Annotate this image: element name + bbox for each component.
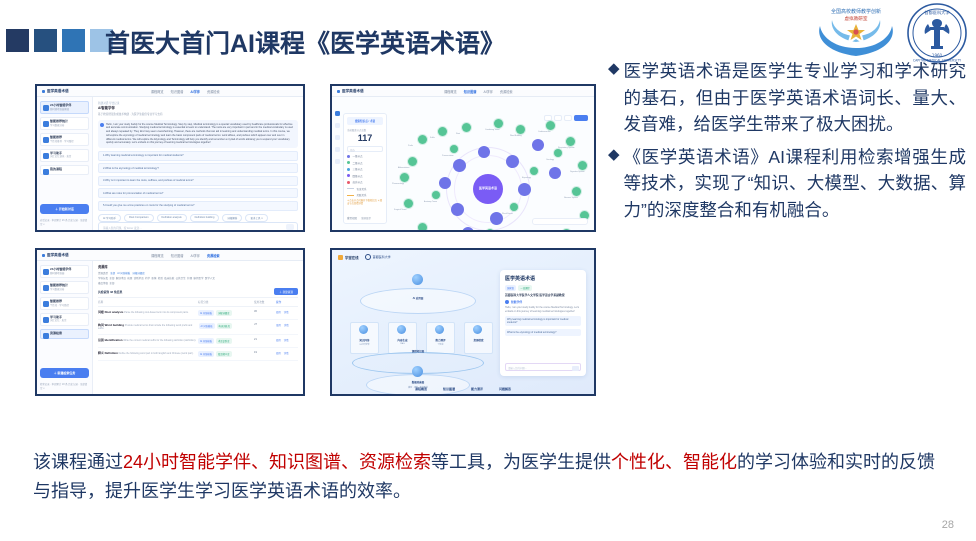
robot-icon [43, 269, 49, 275]
filter-opt-0-2[interactable]: 词根词缀库 [132, 272, 145, 275]
sidebar-item-0[interactable]: 24小时智能学伴 随时随地答疑解惑 [40, 101, 89, 114]
filter-opt-1-9[interactable]: 护理 [187, 277, 192, 280]
graph-node-l2-0[interactable] [418, 135, 427, 144]
graph-notes: ＊点击节点可展开下级知识点 ＊双击节点查看详情 [347, 200, 383, 206]
table-row[interactable]: 构词 Word building Provide medical terms t… [98, 320, 298, 334]
footer-seg-2: 等工具，为医学生提供 [431, 452, 611, 472]
graph-layout-icon[interactable] [554, 115, 562, 121]
graph-export-icon[interactable] [564, 115, 572, 121]
graph-fullscreen-button[interactable]: 全屏显示 [361, 216, 371, 220]
graph-nav-item-0[interactable]: 课程概览 [444, 89, 457, 94]
row-0-count: 36 [254, 310, 276, 313]
graph-label-0: Prefix [408, 145, 413, 147]
course-suggestion-0[interactable]: Why learning medical terminology is impo… [505, 316, 581, 327]
pillar-2-label: 能力测评 [426, 338, 455, 342]
table-row[interactable]: 词根 Root analysis Parse the following roo… [98, 307, 298, 320]
footer-seg-1: 24小时智能学伴、知识图谱、资源检索 [123, 452, 431, 472]
graph-node-l2-16[interactable] [404, 199, 413, 208]
graph-control-panel: 搜索知识点 / 术语 当前图谱节点总数 117 筛选 一级节点 二级节点 三级节… [343, 113, 387, 224]
row-2-desc: Write the correct medical suffix for the… [123, 339, 196, 342]
row-3-desc: Define the following word part in both E… [119, 352, 194, 355]
chat-title: AI智能学伴 [98, 105, 298, 110]
graph-node-l1-6[interactable] [478, 146, 490, 158]
graph-node-l2-4[interactable] [516, 125, 525, 134]
row-2-actions[interactable]: 使用 详情 [276, 338, 298, 342]
graph-center-node[interactable]: 医学英语术语 [473, 174, 503, 204]
chat-main: 新建对话 导出记录 AI智能学伴 基于检索增强生成技术构建 · 为医学生提供专业… [93, 97, 303, 230]
chat-nav[interactable]: 课程概览 知识图谱 AI学伴 资源检索 [151, 89, 220, 94]
filter-opt-1-6[interactable]: 检验 [158, 277, 163, 280]
row-3-use-link[interactable]: 使用 [276, 351, 281, 355]
course-tags: 国家级 一流课程 [505, 285, 581, 291]
new-search-task-button[interactable]: ＋ 新建检索任务 [40, 368, 89, 378]
legend-dot-0 [347, 155, 350, 158]
suggestion-4[interactable]: 5.Could you give me a few practices on r… [98, 201, 298, 211]
row-3-tag-1: 双语释义库 [216, 351, 232, 357]
bullet-item-0: ◆ 医学英语术语是医学生专业学习和学术研究的基石，但由于医学英语术语词长、量大、… [608, 58, 966, 138]
graph-label-18: Abbreviations [398, 167, 409, 169]
legend-dot-2 [347, 168, 350, 171]
pillar-3-label: 资源检索 [464, 338, 493, 342]
graph-node-l2-18[interactable] [408, 157, 417, 166]
stage-bottom-node-label: 数据底座层 [388, 380, 448, 384]
course-bottom-nav-0[interactable]: 课程概览 [415, 387, 427, 391]
filter-opt-1-2[interactable]: 病理 [127, 277, 132, 280]
legend-label-1: 二级节点 [353, 161, 363, 165]
res-sidebar-item-2[interactable]: 智能推荐 个性化 · 学习路径 [40, 297, 89, 310]
legend-item-0: 一级节点 [347, 154, 383, 158]
star-icon [43, 137, 49, 143]
brand-dot-icon [42, 90, 45, 93]
stage-bottom-ellipse [366, 374, 470, 396]
add-resource-button[interactable]: ＋ 新建资源 [274, 288, 298, 295]
chart-icon [43, 285, 49, 291]
graph-body: 搜索知识点 / 术语 当前图谱节点总数 117 筛选 一级节点 二级节点 三级节… [332, 97, 594, 230]
panel-knowledge-graph[interactable]: 医学英语术语 课程概览 知识图谱 AI学伴 资源检索 [330, 84, 596, 232]
graph-label-2: Root [456, 133, 460, 135]
rail-icon-4[interactable] [335, 159, 340, 164]
page-title: 首医大首门AI课程《医学英语术语》 [105, 24, 505, 60]
row-2-tag-1: 术语识别库 [216, 338, 232, 344]
resources-nav-item-0[interactable]: 课程概览 [151, 253, 164, 258]
bullet-marker-1: ◆ [608, 144, 624, 224]
filter-opt-1-10[interactable]: 康复医学 [193, 277, 203, 280]
panel-course-landing[interactable]: 学堂在线 首都医科大学 AI 应用层 [330, 248, 596, 396]
graph-label-6: Respiratory System [558, 147, 575, 149]
assistant-avatar [100, 123, 104, 127]
course-suggestion-1[interactable]: What is the etymology of medical termino… [505, 329, 581, 336]
filter-opt-1-1[interactable]: 解剖术语 [116, 277, 126, 280]
row-3-actions[interactable]: 使用 详情 [276, 351, 298, 355]
graph-node-l2-24[interactable] [554, 149, 562, 157]
row-1-actions[interactable]: 使用 详情 [276, 323, 298, 327]
send-button[interactable] [286, 224, 294, 230]
graph-node-l1-9[interactable] [462, 227, 474, 232]
res-sidebar-item-2-sub: 个性化 · 学习路径 [50, 304, 86, 307]
row-0-detail-link[interactable]: 详情 [284, 310, 289, 314]
graph-node-l2-2[interactable] [462, 123, 471, 132]
decor-square-3 [62, 29, 85, 52]
legend-line-5 [347, 188, 354, 189]
graph-footer-buttons[interactable]: 重置视图 全屏显示 [347, 216, 383, 220]
row-3-detail-link[interactable]: 详情 [284, 351, 289, 355]
row-3-main: 释义 Definition Define the following word … [98, 351, 198, 355]
svg-text:全国高校教师教学创新: 全国高校教师教学创新 [831, 8, 881, 15]
graph-node-l1-8[interactable] [549, 167, 561, 179]
new-conversation-button[interactable]: ＋ 开始新对话 [40, 204, 89, 214]
chat-composer[interactable]: 请输入您的问题，按 Enter 发送… [98, 222, 298, 232]
legend-item-6: 关联关系 [347, 193, 383, 197]
row-0-desc: Parse the following root-based term into… [124, 311, 188, 314]
pillar-1-sub: RAG [388, 343, 417, 345]
graph-reset-button[interactable]: 重置视图 [347, 216, 357, 220]
bullet-text-0: 医学英语术语是医学生专业学习和学术研究的基石，但由于医学英语术语词长、量大、发音… [624, 58, 966, 138]
resources-brand: 医学英语术语 [42, 253, 69, 258]
graph-node-l2-20[interactable] [530, 167, 538, 175]
sidebar-item-1[interactable]: 智能推荐统计 学习数据分析 [40, 117, 89, 130]
row-0-main: 词根 Root analysis Parse the following roo… [98, 310, 198, 314]
pillar-2-sub: 个性化 [426, 343, 455, 346]
res-sidebar-item-0-sub: 随时随地答疑 [50, 272, 86, 275]
assistant-message-text: Hello, I am your study buddy for the cou… [106, 123, 293, 145]
row-3-name: 释义 Definition [98, 351, 118, 355]
star-icon [43, 301, 49, 307]
graph-label-22: Plural Forms [502, 213, 513, 215]
graph-nav[interactable]: 课程概览 知识图谱 AI学伴 资源检索 [444, 89, 513, 94]
legend-item-3: 四级节点 [347, 174, 383, 178]
row-0-tag-1: 词根词缀库 [216, 310, 232, 316]
tool-tag-4[interactable]: 词根解析 [222, 214, 242, 222]
chat-nav-item-2[interactable]: AI学伴 [190, 89, 200, 94]
row-0-tag-0: AI 问答模板 [198, 310, 214, 316]
graph-node-l2-17[interactable] [400, 173, 409, 182]
col-tags: 标签分类 [198, 300, 254, 304]
capital-medical-university-seal-icon: 首都医科大学 1960 CAPITAL MEDICAL UNIVERSITY [906, 2, 968, 64]
resources-sidebar-footer: 检索记录 · 本周累计 18 条 历史记录 · 全部清空 ∨ [40, 381, 89, 390]
course-input-placeholder: 请输入您的问题… [508, 367, 527, 370]
bullet-item-1: ◆ 《医学英语术语》AI课程利用检索增强生成等技术，实现了“知识、大模型、大数据… [608, 144, 966, 224]
graph-node-l2-8[interactable] [572, 187, 581, 196]
resources-nav-item-1[interactable]: 知识图谱 [171, 253, 184, 258]
legend-line-6 [347, 195, 354, 196]
graph-node-l2-1[interactable] [438, 127, 447, 136]
graph-node-l1-2[interactable] [518, 183, 531, 196]
res-sidebar-item-4-title: 资源检索 [50, 332, 86, 336]
legend-label-6: 关联关系 [357, 193, 367, 197]
filter-opt-1-4[interactable]: 药学 [145, 277, 150, 280]
graph-zoom-slider[interactable] [532, 218, 588, 225]
legend-item-4: 高亮节点 [347, 180, 383, 184]
sidebar-item-1-sub: 学习数据分析 [50, 124, 86, 127]
row-3-count: 19 [254, 351, 276, 354]
resources-table: 名称 标签分类 使用次数 操作 词根 Root analysis Parse t… [98, 297, 298, 360]
screenshot-gallery: 医学英语术语 课程概览 知识图谱 AI学伴 资源检索 24小时智能学伴 [33, 82, 599, 407]
xuetangx-brand-label: 学堂在线 [345, 255, 359, 260]
legend-dot-4 [347, 181, 350, 184]
graph-brand: 医学英语术语 [337, 89, 364, 94]
legend-label-5: 包含关系 [357, 187, 367, 191]
tool-tag-2[interactable]: Definition analysis [157, 214, 187, 222]
chat-tool-tags: AI 学习助手 Root Comparison Definition analy… [98, 214, 298, 222]
graph-label-5: Cardiovascular [538, 131, 551, 133]
teaching-innovation-emblem-icon: 全国高校教师教学创新 虚拟教研室 [810, 4, 902, 62]
graph-node-l2-10[interactable] [562, 229, 571, 232]
tool-tag-0[interactable]: AI 学习助手 [98, 214, 121, 222]
rail-icon-0[interactable] [335, 111, 340, 116]
university-seal-icon [365, 254, 371, 260]
graph-node-l1-0[interactable] [453, 159, 466, 172]
row-0-use-link[interactable]: 使用 [276, 310, 281, 314]
table-row[interactable]: 释义 Definition Define the following word … [98, 348, 298, 361]
course-tag-0: 国家级 [505, 285, 516, 291]
res-sidebar-item-3-sub: 词汇记忆 · 发音 [50, 319, 86, 322]
graph-node-l2-15[interactable] [418, 223, 427, 232]
course-bottom-nav-1[interactable]: 知识图谱 [443, 387, 455, 391]
robot-icon [43, 105, 49, 111]
row-1-tag-1: 构词训练库 [217, 323, 233, 329]
sidebar-item-0-sub: 随时随地答疑解惑 [50, 108, 86, 111]
tool-tag-1[interactable]: Root Comparison [124, 214, 153, 222]
legend-item-1: 二级节点 [347, 161, 383, 165]
graph-brand-label: 医学英语术语 [342, 89, 364, 94]
graph-node-l2-22[interactable] [510, 203, 518, 211]
rail-icon-3[interactable] [335, 147, 340, 152]
graph-nav-item-1[interactable]: 知识图谱 [464, 89, 477, 94]
row-0-actions[interactable]: 使用 详情 [276, 310, 298, 314]
legend-item-2: 三级节点 [347, 167, 383, 171]
filter-opt-1-7[interactable]: 临床技能 [164, 277, 174, 280]
chat-nav-item-1[interactable]: 知识图谱 [171, 89, 184, 94]
row-0-tags: AI 问答模板 词根词缀库 [198, 310, 254, 316]
course-assistant-message: Hello, I am your study buddy for the cou… [505, 306, 581, 313]
bullet-marker-0: ◆ [608, 58, 624, 138]
graph-filter-input[interactable]: 筛选 [347, 146, 383, 152]
decor-square-2 [34, 29, 57, 52]
resources-app-header: 医学英语术语 课程概览 知识图谱 AI学伴 资源检索 [37, 250, 303, 261]
chat-nav-item-3[interactable]: 资源检索 [207, 89, 220, 94]
rail-icon-1[interactable] [335, 123, 340, 128]
course-send-button[interactable] [572, 366, 579, 371]
composer-placeholder: 请输入您的问题，按 Enter 发送… [103, 227, 142, 230]
row-2-main: 识别 Identification Write the correct medi… [98, 338, 198, 342]
graph-node-count: 117 [347, 134, 383, 143]
course-bottom-nav-3[interactable]: 问题解答 [499, 387, 511, 391]
page-number: 28 [942, 519, 954, 531]
row-2-tag-0: AI 问答模板 [198, 338, 214, 344]
brand-dot-icon [42, 254, 45, 257]
tool-tag-5[interactable]: 更多工具 ∨ [245, 214, 268, 222]
folder-icon [43, 169, 49, 175]
row-2-count: 21 [254, 338, 276, 341]
pillar-0-label: 知识问答 [350, 338, 379, 342]
book-icon [43, 317, 49, 323]
filter-opt-1-8[interactable]: 公共卫生 [176, 277, 186, 280]
graph-canvas[interactable]: 医学英语术语 [390, 111, 592, 228]
pillar-3-icon [473, 325, 482, 334]
assistant-label: 智能学伴 [511, 300, 522, 304]
filter-opt-1-5[interactable]: 影像 [151, 277, 156, 280]
filter-opt-0-0[interactable]: 全部 [110, 272, 115, 275]
filter-label-2: 难度等级 [98, 282, 108, 285]
row-1-use-link[interactable]: 使用 [276, 323, 281, 327]
graph-node-l1-5[interactable] [439, 177, 451, 189]
course-input[interactable]: 请输入您的问题… [505, 363, 581, 371]
slide-root: 首医大首门AI课程《医学英语术语》 全国高校教师教学创新 虚拟教研室 首都医科大… [0, 0, 976, 541]
stage-top-node-label: AI 应用层 [388, 296, 448, 300]
table-row[interactable]: 识别 Identification Write the correct medi… [98, 335, 298, 348]
graph-label-16: Surgical Terms [394, 209, 406, 211]
sidebar-item-3[interactable]: 学习助手 词汇记忆训练 · 发音 [40, 149, 89, 162]
stage-bottom-node-icon [412, 366, 423, 377]
graph-node-l2-21[interactable] [432, 191, 440, 199]
graph-label-7: Digestive System [570, 171, 585, 173]
panel-ai-study-buddy[interactable]: 医学英语术语 课程概览 知识图谱 AI学伴 资源检索 24小时智能学伴 [35, 84, 305, 232]
xuetangx-brand[interactable]: 学堂在线 [338, 255, 359, 260]
svg-text:首都医科大学: 首都医科大学 [924, 9, 949, 16]
legend-label-2: 三级节点 [353, 167, 363, 171]
res-sidebar-item-1-sub: 学习数据分析 [50, 288, 86, 291]
row-1-detail-link[interactable]: 详情 [284, 323, 289, 327]
svg-text:虚拟教研室: 虚拟教研室 [845, 15, 868, 22]
course-bottom-nav-2[interactable]: 能力测评 [471, 387, 483, 391]
res-sidebar-item-0[interactable]: 24小时智能学伴 随时随地答疑 [40, 265, 89, 278]
filter-opt-1-0[interactable]: 全部 [109, 277, 114, 280]
graph-nav-item-3[interactable]: 资源检索 [500, 89, 513, 94]
graph-node-l2-6[interactable] [566, 137, 575, 146]
graph-label-17: Pharmacology [392, 183, 404, 185]
suggestion-1[interactable]: 2.What is the etymology of medical termi… [98, 163, 298, 173]
suggestion-2[interactable]: 3.Why is it important to learn the roots… [98, 176, 298, 186]
legend-item-5: 包含关系 [347, 187, 383, 191]
res-sidebar-item-3[interactable]: 学习助手 词汇记忆 · 发音 [40, 313, 89, 326]
resources-nav-item-3[interactable]: 资源检索 [207, 253, 220, 258]
resources-sidebar: 24小时智能学伴 随时随地答疑 智能推荐统计 学习数据分析 智能推荐 个性化 ·… [37, 261, 93, 394]
res-sidebar-item-4[interactable]: 资源检索 [40, 329, 89, 339]
table-header-row: 名称 标签分类 使用次数 操作 [98, 298, 298, 307]
graph-node-l2-19[interactable] [450, 145, 458, 153]
resources-nav-item-2[interactable]: AI学伴 [190, 253, 199, 258]
row-2-name: 识别 Identification [98, 338, 123, 342]
course-title: 医学英语术语 [505, 275, 581, 282]
course-info-card: 医学英语术语 国家级 一流课程 首都医科大学医学人文学院 医学语言学系副教授 智… [500, 270, 586, 376]
filter-opt-1-11[interactable]: 医学人文 [205, 277, 215, 280]
graph-nav-item-2[interactable]: AI学伴 [483, 89, 492, 94]
resources-brand-label: 医学英语术语 [47, 253, 69, 258]
course-bottom-nav[interactable]: 课程概览 知识图谱 能力测评 问题解答 [332, 387, 594, 391]
chat-brand: 医学英语术语 [42, 89, 69, 94]
legend-label-4: 高亮节点 [353, 180, 363, 184]
graph-search-button[interactable]: 搜索知识点 / 术语 [347, 117, 383, 125]
row-1-count: 27 [254, 323, 276, 326]
pillar-1-label: 内容生成 [388, 338, 417, 342]
book-icon [43, 153, 49, 159]
row-3-tags: AI 问答模板 双语释义库 [198, 351, 254, 357]
res-sidebar-item-1[interactable]: 智能推荐统计 学习数据分析 [40, 281, 89, 294]
filter-opt-0-1[interactable]: AI 问答模板 [117, 272, 130, 275]
filter-opt-2-0[interactable]: 全部 [109, 282, 114, 285]
resources-result-bar: 共检索到 38 条结果 ＋ 新建资源 [93, 286, 303, 297]
stage-top-ellipse [360, 288, 476, 314]
graph-label-19: Pronunciation [442, 155, 454, 157]
legend-dot-3 [347, 174, 350, 177]
graph-label-1: Suffix [430, 137, 435, 139]
row-1-tag-0: AI 问答模板 [199, 323, 215, 329]
col-actions: 操作 [276, 300, 298, 304]
sidebar-item-4-title: 我的课程 [50, 168, 86, 172]
graph-node-l1-1[interactable] [506, 155, 519, 168]
graph-count-label: 当前图谱节点总数 [347, 128, 383, 132]
search-icon [43, 333, 49, 339]
resources-nav[interactable]: 课程概览 知识图谱 AI学伴 资源检索 [151, 253, 220, 258]
graph-node-l2-5[interactable] [546, 121, 555, 130]
sidebar-item-2[interactable]: 智能推荐 个性化推荐 · 学习路径 [40, 133, 89, 146]
brand-dot-icon [337, 90, 340, 93]
legend-dot-1 [347, 161, 350, 164]
footer-seg-0: 该课程通过 [33, 452, 123, 472]
course-architecture-diagram: AI 应用层 知识问答 24小时学伴 内容生成 RAG 能力测评 个性化 资源 [342, 270, 502, 376]
sidebar-item-4[interactable]: 我的课程 [40, 165, 89, 175]
header-decor-squares [6, 29, 113, 52]
bullet-text-1: 《医学英语术语》AI课程利用检索增强生成等技术，实现了“知识、大模型、大数据、算… [624, 144, 966, 224]
graph-node-l2-7[interactable] [578, 161, 587, 170]
rail-icon-2[interactable] [335, 135, 340, 140]
panel-resource-retrieval[interactable]: 医学英语术语 课程概览 知识图谱 AI学伴 资源检索 24小时智能学伴 [35, 248, 305, 396]
xuetangx-logo-icon [338, 255, 343, 260]
row-1-tags: AI 问答模板 构词训练库 [199, 323, 255, 329]
chat-nav-item-0[interactable]: 课程概览 [151, 89, 164, 94]
sidebar-item-3-sub: 词汇记忆训练 · 发音 [50, 155, 86, 158]
decor-square-1 [6, 29, 29, 52]
graph-label-8: Nervous System [564, 197, 578, 199]
university-brand: 首都医科大学 [365, 254, 391, 260]
graph-node-l1-10[interactable] [522, 230, 534, 232]
graph-node-l1-7[interactable] [532, 139, 544, 151]
graph-label-4: Word Building [510, 135, 522, 137]
chat-app-header: 医学英语术语 课程概览 知识图谱 AI学伴 资源检索 [37, 86, 303, 97]
filter-opt-1-3[interactable]: 诊断术语 [134, 277, 144, 280]
graph-label-3: Combining Vowel [485, 129, 500, 131]
course-tag-1: 一流课程 [518, 285, 531, 291]
tool-tag-3[interactable]: Definition building [190, 214, 220, 222]
sidebar-item-2-sub: 个性化推荐 · 学习路径 [50, 140, 86, 143]
stage-mid-label: 课程知识层 [388, 349, 448, 353]
assistant-avatar-icon [505, 300, 509, 304]
bullet-list: ◆ 医学英语术语是医学生专业学习和学术研究的基石，但由于医学英语术语词长、量大、… [608, 58, 966, 230]
graph-node-l1-4[interactable] [451, 203, 464, 216]
logo-group: 全国高校教师教学创新 虚拟教研室 首都医科大学 1960 CAPITAL MED… [810, 2, 968, 64]
assistant-message: Hello, I am your study buddy for the cou… [98, 120, 298, 149]
graph-app-header: 医学英语术语 课程概览 知识图谱 AI学伴 资源检索 [332, 86, 594, 97]
graph-node-l2-23[interactable] [486, 229, 494, 232]
graph-apply-button[interactable] [574, 115, 588, 121]
pillar-2-icon [435, 325, 444, 334]
row-0-name: 词根 Root analysis [98, 310, 123, 314]
assistant-header: 智能学伴 [505, 300, 581, 304]
suggestion-3[interactable]: 4.What are rules for pronunciation of me… [98, 188, 298, 198]
row-2-detail-link[interactable]: 详情 [284, 338, 289, 342]
course-affiliation: 首都医科大学医学人文学院 医学语言学系副教授 [505, 293, 581, 297]
row-1-main: 构词 Word building Provide medical terms t… [98, 323, 199, 330]
footer-paragraph: 该课程通过24小时智能学伴、知识图谱、资源检索等工具，为医学生提供个性化、智能化… [33, 448, 948, 506]
course-header: 学堂在线 首都医科大学 [332, 250, 594, 264]
col-name: 名称 [98, 300, 198, 304]
pillar-1-icon [397, 325, 406, 334]
row-2-use-link[interactable]: 使用 [276, 338, 281, 342]
graph-node-l2-3[interactable] [494, 119, 503, 128]
suggestion-0[interactable]: 1.Why learning medical terminology is im… [98, 151, 298, 161]
graph-label-24: Oncology [546, 159, 554, 161]
graph-left-rail[interactable] [334, 111, 340, 164]
